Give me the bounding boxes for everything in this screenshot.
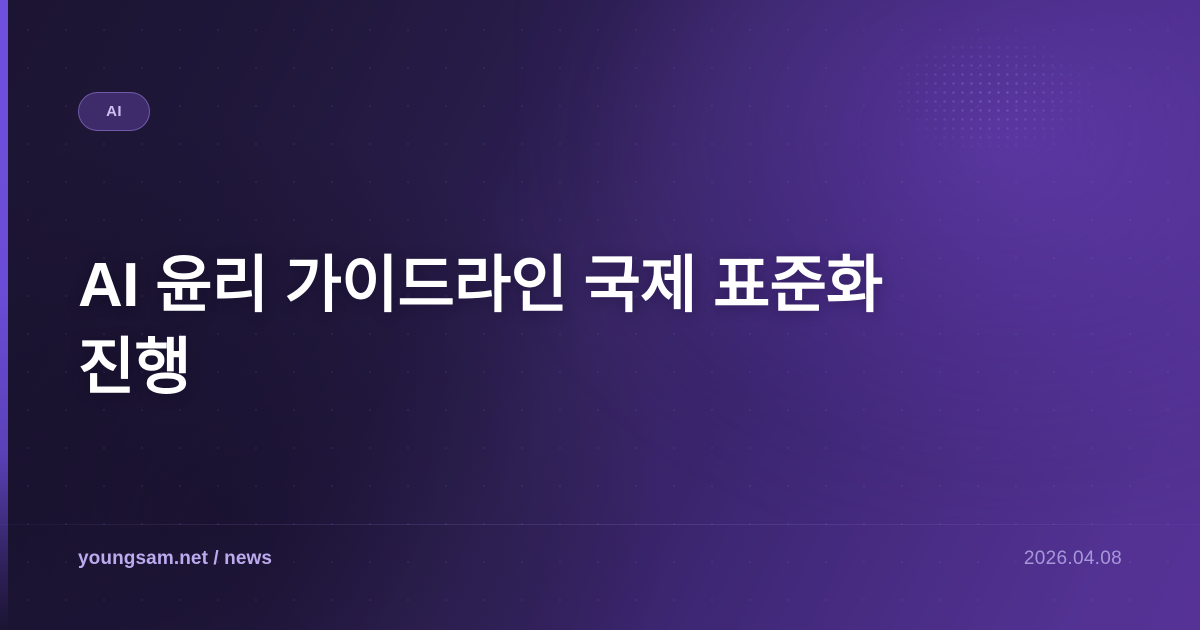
- footer-divider: [0, 524, 1200, 525]
- social-share-card: AI AI 윤리 가이드라인 국제 표준화 진행 youngsam.net / …: [0, 0, 1200, 630]
- site-name[interactable]: youngsam.net / news: [78, 549, 272, 568]
- card-footer: youngsam.net / news 2026.04.08: [78, 544, 1122, 572]
- publish-date: 2026.04.08: [1024, 549, 1122, 568]
- page-title: AI 윤리 가이드라인 국제 표준화 진행: [78, 245, 978, 409]
- category-badge[interactable]: AI: [78, 92, 150, 131]
- card-content: AI AI 윤리 가이드라인 국제 표준화 진행 youngsam.net / …: [0, 0, 1200, 630]
- category-badge-label: AI: [106, 104, 122, 119]
